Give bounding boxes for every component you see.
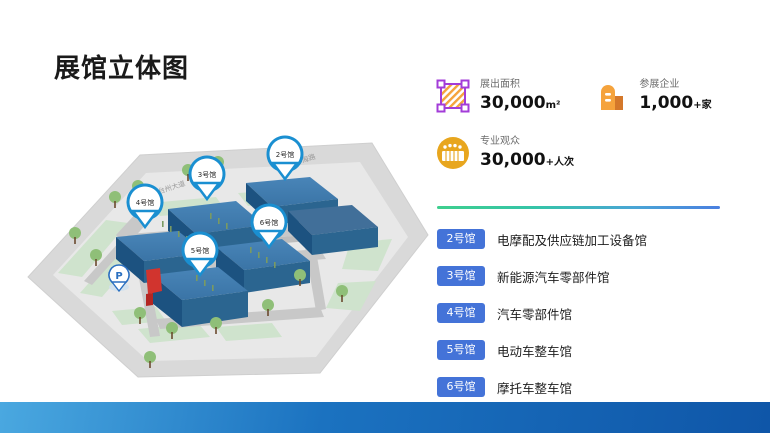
stat-number: 30,000 [480, 150, 546, 170]
exhibition-site-3d-map[interactable]: 台州大道 心海路 [20, 115, 435, 395]
stat-value: 30,000+人次 [480, 150, 574, 170]
marker-label: 2号馆 [276, 150, 294, 159]
hall-name: 汽车零部件馆 [497, 304, 572, 323]
stat-unit: +人次 [546, 157, 574, 168]
stat-unit: m² [546, 100, 561, 111]
stats-panel: 展出面积 30,000m² 参展企业 1,000+家 [435, 78, 735, 171]
stats-row-secondary: 专业观众 30,000+人次 [435, 135, 735, 171]
stat-visitors: 专业观众 30,000+人次 [435, 135, 574, 171]
stat-value: 30,000m² [480, 93, 560, 113]
page-title: 展馆立体图 [54, 48, 189, 85]
hall-list-item[interactable]: 4号馆 汽车零部件馆 [437, 302, 737, 324]
hall-list-item[interactable]: 5号馆 电动车整车馆 [437, 339, 737, 361]
stat-value: 1,000+家 [639, 93, 711, 113]
hall-list-item[interactable]: 3号馆 新能源汽车零部件馆 [437, 265, 737, 287]
stat-label: 参展企业 [639, 79, 711, 91]
hall-badge: 2号馆 [437, 229, 485, 248]
hall-list-item[interactable]: 2号馆 电摩配及供应链加工设备馆 [437, 228, 737, 250]
hall-badge: 3号馆 [437, 266, 485, 285]
building-icon [594, 78, 630, 114]
area-hatch-icon [435, 78, 471, 114]
parking-marker-label: P [115, 271, 122, 282]
marker-label: 4号馆 [136, 198, 154, 207]
hall-badge: 5号馆 [437, 340, 485, 359]
hall-name: 电动车整车馆 [497, 341, 572, 360]
audience-icon [435, 135, 471, 171]
stat-exhibitors: 参展企业 1,000+家 [594, 78, 711, 114]
stat-number: 1,000 [639, 93, 693, 113]
map-marker-parking[interactable]: P [109, 265, 129, 291]
hall-name: 新能源汽车零部件馆 [497, 267, 610, 286]
hall-badge: 6号馆 [437, 377, 485, 396]
bottom-banner [0, 402, 770, 433]
marker-label: 3号馆 [198, 170, 216, 179]
hall-name: 摩托车整车馆 [497, 378, 572, 397]
stats-row-primary: 展出面积 30,000m² 参展企业 1,000+家 [435, 78, 735, 114]
stat-exhibition-area: 展出面积 30,000m² [435, 78, 560, 114]
hall-list: 2号馆 电摩配及供应链加工设备馆 3号馆 新能源汽车零部件馆 4号馆 汽车零部件… [437, 228, 737, 413]
hall-badge: 4号馆 [437, 303, 485, 322]
stat-number: 30,000 [480, 93, 546, 113]
stat-label: 展出面积 [480, 79, 560, 91]
stat-label: 专业观众 [480, 136, 574, 148]
stat-unit: +家 [693, 100, 711, 111]
hall-list-item[interactable]: 6号馆 摩托车整车馆 [437, 376, 737, 398]
section-divider [437, 206, 720, 209]
marker-label: 5号馆 [191, 246, 209, 255]
hall-name: 电摩配及供应链加工设备馆 [497, 230, 647, 249]
marker-label: 6号馆 [260, 218, 278, 227]
